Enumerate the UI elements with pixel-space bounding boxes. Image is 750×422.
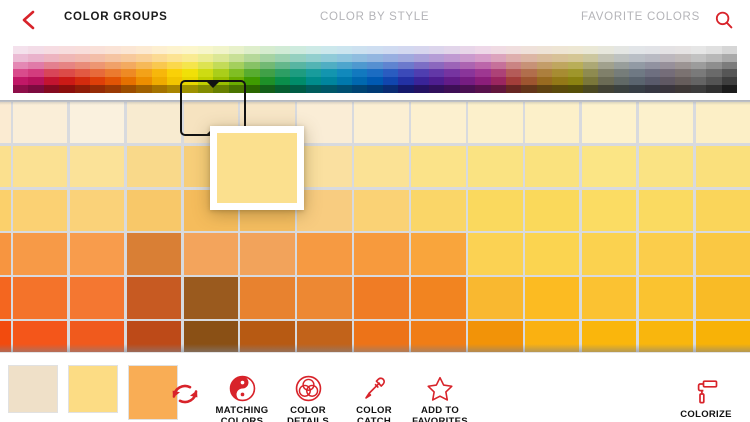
- color-swatch[interactable]: [582, 321, 637, 352]
- spectrum-cell[interactable]: [645, 54, 660, 62]
- spectrum-cell[interactable]: [260, 46, 275, 54]
- spectrum-cell[interactable]: [537, 62, 552, 70]
- spectrum-cell[interactable]: [75, 62, 90, 70]
- tab-color-groups[interactable]: COLOR GROUPS: [64, 11, 168, 23]
- spectrum-cell[interactable]: [213, 54, 228, 62]
- spectrum-cell[interactable]: [44, 77, 59, 85]
- spectrum-column[interactable]: [167, 46, 182, 93]
- spectrum-column[interactable]: [583, 46, 598, 93]
- spectrum-cell[interactable]: [244, 69, 259, 77]
- spectrum-cell[interactable]: [182, 69, 197, 77]
- refresh-button[interactable]: [168, 379, 202, 409]
- color-swatch[interactable]: [13, 321, 68, 352]
- spectrum-cell[interactable]: [13, 46, 28, 54]
- spectrum-cell[interactable]: [167, 46, 182, 54]
- spectrum-column[interactable]: [105, 46, 120, 93]
- spectrum-column[interactable]: [722, 46, 737, 93]
- color-swatch[interactable]: [468, 321, 523, 352]
- spectrum-column[interactable]: [213, 46, 228, 93]
- spectrum-cell[interactable]: [583, 69, 598, 77]
- spectrum-cell[interactable]: [244, 62, 259, 70]
- spectrum-cell[interactable]: [629, 54, 644, 62]
- spectrum-cell[interactable]: [706, 46, 721, 54]
- color-swatch[interactable]: [639, 146, 694, 187]
- color-swatch[interactable]: [354, 233, 409, 274]
- spectrum-cell[interactable]: [629, 46, 644, 54]
- spectrum-cell[interactable]: [152, 85, 167, 93]
- spectrum-cell[interactable]: [645, 85, 660, 93]
- spectrum-cell[interactable]: [275, 54, 290, 62]
- spectrum-cell[interactable]: [429, 85, 444, 93]
- spectrum-cell[interactable]: [213, 62, 228, 70]
- spectrum-cell[interactable]: [444, 54, 459, 62]
- spectrum-cell[interactable]: [521, 85, 536, 93]
- spectrum-column[interactable]: [337, 46, 352, 93]
- spectrum-cell[interactable]: [444, 77, 459, 85]
- spectrum-cell[interactable]: [675, 85, 690, 93]
- color-swatch[interactable]: [13, 233, 68, 274]
- spectrum-cell[interactable]: [675, 54, 690, 62]
- spectrum-cell[interactable]: [75, 54, 90, 62]
- spectrum-cell[interactable]: [722, 77, 737, 85]
- color-swatch[interactable]: [70, 321, 125, 352]
- spectrum-cell[interactable]: [722, 54, 737, 62]
- spectrum-cell[interactable]: [614, 85, 629, 93]
- spectrum-cell[interactable]: [105, 54, 120, 62]
- spectrum-cell[interactable]: [506, 77, 521, 85]
- color-swatch[interactable]: [70, 102, 125, 143]
- spectrum-cell[interactable]: [290, 69, 305, 77]
- spectrum-cell[interactable]: [491, 62, 506, 70]
- color-swatch[interactable]: [184, 277, 239, 318]
- spectrum-column[interactable]: [244, 46, 259, 93]
- spectrum-cell[interactable]: [583, 77, 598, 85]
- color-swatch[interactable]: [354, 190, 409, 231]
- color-swatch[interactable]: [0, 277, 11, 318]
- spectrum-column[interactable]: [506, 46, 521, 93]
- color-swatch[interactable]: [297, 146, 352, 187]
- spectrum-cell[interactable]: [475, 77, 490, 85]
- spectrum-cell[interactable]: [367, 85, 382, 93]
- spectrum-column[interactable]: [182, 46, 197, 93]
- spectrum-column[interactable]: [75, 46, 90, 93]
- spectrum-cell[interactable]: [182, 77, 197, 85]
- spectrum-cell[interactable]: [691, 54, 706, 62]
- spectrum-cell[interactable]: [645, 77, 660, 85]
- color-swatch[interactable]: [582, 146, 637, 187]
- spectrum-cell[interactable]: [105, 46, 120, 54]
- color-swatch[interactable]: [639, 102, 694, 143]
- spectrum-column[interactable]: [475, 46, 490, 93]
- spectrum-column[interactable]: [537, 46, 552, 93]
- spectrum-cell[interactable]: [367, 69, 382, 77]
- color-swatch[interactable]: [13, 277, 68, 318]
- color-swatch[interactable]: [0, 102, 11, 143]
- spectrum-cell[interactable]: [568, 77, 583, 85]
- spectrum-cell[interactable]: [629, 69, 644, 77]
- color-swatch[interactable]: [354, 146, 409, 187]
- color-swatch[interactable]: [696, 277, 750, 318]
- spectrum-cell[interactable]: [475, 54, 490, 62]
- tab-color-by-style[interactable]: COLOR BY STYLE: [320, 11, 429, 23]
- spectrum-cell[interactable]: [398, 62, 413, 70]
- color-grid[interactable]: [0, 102, 750, 352]
- spectrum-cell[interactable]: [59, 46, 74, 54]
- spectrum-cell[interactable]: [59, 77, 74, 85]
- spectrum-cell[interactable]: [568, 69, 583, 77]
- spectrum-cell[interactable]: [121, 85, 136, 93]
- color-swatch[interactable]: [696, 102, 750, 143]
- spectrum-cell[interactable]: [506, 69, 521, 77]
- color-swatch[interactable]: [468, 277, 523, 318]
- spectrum-column[interactable]: [13, 46, 28, 93]
- spectrum-cell[interactable]: [383, 77, 398, 85]
- spectrum-cell[interactable]: [414, 62, 429, 70]
- spectrum-cell[interactable]: [44, 85, 59, 93]
- spectrum-cell[interactable]: [645, 46, 660, 54]
- spectrum-cell[interactable]: [367, 77, 382, 85]
- spectrum-cell[interactable]: [198, 46, 213, 54]
- spectrum-cell[interactable]: [13, 85, 28, 93]
- spectrum-cell[interactable]: [352, 69, 367, 77]
- spectrum-cell[interactable]: [275, 46, 290, 54]
- spectrum-cell[interactable]: [90, 54, 105, 62]
- color-swatch[interactable]: [354, 102, 409, 143]
- spectrum-cell[interactable]: [337, 46, 352, 54]
- spectrum-cell[interactable]: [121, 54, 136, 62]
- spectrum-cell[interactable]: [167, 85, 182, 93]
- spectrum-cell[interactable]: [260, 69, 275, 77]
- spectrum-cell[interactable]: [521, 69, 536, 77]
- spectrum-cell[interactable]: [691, 62, 706, 70]
- spectrum-cell[interactable]: [614, 46, 629, 54]
- spectrum-cell[interactable]: [691, 46, 706, 54]
- spectrum-column[interactable]: [414, 46, 429, 93]
- spectrum-cell[interactable]: [537, 77, 552, 85]
- spectrum-cell[interactable]: [352, 77, 367, 85]
- spectrum-cell[interactable]: [521, 54, 536, 62]
- spectrum-cell[interactable]: [460, 62, 475, 70]
- spectrum-cell[interactable]: [460, 69, 475, 77]
- spectrum-cell[interactable]: [444, 85, 459, 93]
- color-swatch[interactable]: [411, 233, 466, 274]
- spectrum-cell[interactable]: [306, 69, 321, 77]
- color-swatch[interactable]: [411, 190, 466, 231]
- spectrum-column[interactable]: [121, 46, 136, 93]
- spectrum-cell[interactable]: [598, 85, 613, 93]
- spectrum-cell[interactable]: [645, 69, 660, 77]
- spectrum-cell[interactable]: [244, 54, 259, 62]
- spectrum-cell[interactable]: [660, 46, 675, 54]
- spectrum-cell[interactable]: [491, 85, 506, 93]
- spectrum-cell[interactable]: [614, 77, 629, 85]
- tab-favorite-colors[interactable]: FAVORITE COLORS: [581, 11, 700, 23]
- spectrum-cell[interactable]: [691, 85, 706, 93]
- spectrum-cell[interactable]: [44, 54, 59, 62]
- spectrum-cell[interactable]: [367, 46, 382, 54]
- spectrum-cell[interactable]: [414, 77, 429, 85]
- spectrum-cell[interactable]: [44, 62, 59, 70]
- spectrum-cell[interactable]: [198, 77, 213, 85]
- spectrum-cell[interactable]: [722, 62, 737, 70]
- spectrum-cell[interactable]: [59, 85, 74, 93]
- spectrum-cell[interactable]: [598, 54, 613, 62]
- spectrum-cell[interactable]: [660, 54, 675, 62]
- spectrum-cell[interactable]: [198, 69, 213, 77]
- spectrum-column[interactable]: [290, 46, 305, 93]
- spectrum-cell[interactable]: [75, 46, 90, 54]
- spectrum-cell[interactable]: [614, 54, 629, 62]
- spectrum-cell[interactable]: [90, 77, 105, 85]
- spectrum-column[interactable]: [568, 46, 583, 93]
- spectrum-cell[interactable]: [167, 77, 182, 85]
- spectrum-cell[interactable]: [491, 69, 506, 77]
- color-swatch[interactable]: [411, 102, 466, 143]
- spectrum-cell[interactable]: [660, 69, 675, 77]
- spectrum-column[interactable]: [59, 46, 74, 93]
- spectrum-cell[interactable]: [583, 62, 598, 70]
- spectrum-cell[interactable]: [675, 77, 690, 85]
- color-swatch[interactable]: [297, 190, 352, 231]
- spectrum-cell[interactable]: [414, 85, 429, 93]
- spectrum-cell[interactable]: [414, 69, 429, 77]
- spectrum-cell[interactable]: [598, 46, 613, 54]
- spectrum-cell[interactable]: [506, 85, 521, 93]
- spectrum-cell[interactable]: [182, 54, 197, 62]
- spectrum-cell[interactable]: [182, 62, 197, 70]
- spectrum-cell[interactable]: [598, 77, 613, 85]
- spectrum-cell[interactable]: [383, 85, 398, 93]
- spectrum-cell[interactable]: [213, 85, 228, 93]
- spectrum-cell[interactable]: [152, 69, 167, 77]
- spectrum-cell[interactable]: [383, 62, 398, 70]
- spectrum-column[interactable]: [90, 46, 105, 93]
- spectrum-cell[interactable]: [59, 62, 74, 70]
- spectrum-cell[interactable]: [521, 62, 536, 70]
- spectrum-cell[interactable]: [229, 85, 244, 93]
- spectrum-cell[interactable]: [260, 54, 275, 62]
- color-swatch[interactable]: [468, 102, 523, 143]
- spectrum-cell[interactable]: [706, 85, 721, 93]
- spectrum-cell[interactable]: [260, 77, 275, 85]
- spectrum-cell[interactable]: [275, 62, 290, 70]
- spectrum-cell[interactable]: [290, 46, 305, 54]
- spectrum-cell[interactable]: [182, 85, 197, 93]
- spectrum-column[interactable]: [229, 46, 244, 93]
- spectrum-cell[interactable]: [337, 69, 352, 77]
- spectrum-cell[interactable]: [13, 77, 28, 85]
- spectrum-cell[interactable]: [28, 69, 43, 77]
- spectrum-cell[interactable]: [28, 77, 43, 85]
- spectrum-cell[interactable]: [491, 46, 506, 54]
- recent-swatch-2[interactable]: [68, 365, 118, 413]
- color-swatch[interactable]: [411, 146, 466, 187]
- spectrum-cell[interactable]: [552, 62, 567, 70]
- spectrum-column[interactable]: [152, 46, 167, 93]
- spectrum-column[interactable]: [367, 46, 382, 93]
- spectrum-column[interactable]: [552, 46, 567, 93]
- color-swatch[interactable]: [696, 321, 750, 352]
- spectrum-cell[interactable]: [568, 54, 583, 62]
- spectrum-cell[interactable]: [136, 54, 151, 62]
- spectrum-column[interactable]: [491, 46, 506, 93]
- selected-color-popup[interactable]: [210, 126, 304, 210]
- spectrum-cell[interactable]: [583, 85, 598, 93]
- spectrum-cell[interactable]: [167, 62, 182, 70]
- spectrum-column[interactable]: [352, 46, 367, 93]
- spectrum-cell[interactable]: [321, 46, 336, 54]
- spectrum-cell[interactable]: [460, 77, 475, 85]
- colorize-button[interactable]: COLORIZE: [666, 377, 746, 420]
- spectrum-cell[interactable]: [660, 77, 675, 85]
- spectrum-cell[interactable]: [306, 54, 321, 62]
- color-swatch[interactable]: [70, 190, 125, 231]
- spectrum-cell[interactable]: [583, 46, 598, 54]
- spectrum-column[interactable]: [383, 46, 398, 93]
- spectrum-cell[interactable]: [706, 62, 721, 70]
- color-swatch[interactable]: [240, 233, 295, 274]
- spectrum-cell[interactable]: [90, 85, 105, 93]
- spectrum-cell[interactable]: [321, 85, 336, 93]
- color-swatch[interactable]: [582, 190, 637, 231]
- spectrum-cell[interactable]: [337, 54, 352, 62]
- spectrum-cell[interactable]: [321, 54, 336, 62]
- color-swatch[interactable]: [13, 102, 68, 143]
- spectrum-cell[interactable]: [306, 85, 321, 93]
- spectrum-cell[interactable]: [75, 85, 90, 93]
- spectrum-cell[interactable]: [290, 54, 305, 62]
- color-swatch[interactable]: [127, 190, 182, 231]
- spectrum-cell[interactable]: [352, 46, 367, 54]
- spectrum-cell[interactable]: [136, 69, 151, 77]
- spectrum-cell[interactable]: [275, 85, 290, 93]
- color-swatch[interactable]: [582, 277, 637, 318]
- spectrum-cell[interactable]: [136, 77, 151, 85]
- spectrum-cell[interactable]: [121, 77, 136, 85]
- spectrum-cell[interactable]: [537, 54, 552, 62]
- spectrum-cell[interactable]: [167, 69, 182, 77]
- spectrum-cell[interactable]: [691, 69, 706, 77]
- spectrum-cell[interactable]: [722, 46, 737, 54]
- search-button[interactable]: [712, 8, 736, 32]
- spectrum-cell[interactable]: [75, 77, 90, 85]
- spectrum-cell[interactable]: [506, 62, 521, 70]
- spectrum-cell[interactable]: [337, 85, 352, 93]
- spectrum-cell[interactable]: [460, 85, 475, 93]
- spectrum-cell[interactable]: [475, 46, 490, 54]
- color-grid-area[interactable]: [0, 100, 750, 352]
- color-swatch[interactable]: [468, 146, 523, 187]
- spectrum-cell[interactable]: [152, 54, 167, 62]
- color-swatch[interactable]: [639, 277, 694, 318]
- spectrum-cell[interactable]: [537, 46, 552, 54]
- spectrum-cell[interactable]: [121, 46, 136, 54]
- spectrum-column[interactable]: [429, 46, 444, 93]
- spectrum-cell[interactable]: [367, 62, 382, 70]
- spectrum-cell[interactable]: [75, 69, 90, 77]
- color-swatch[interactable]: [297, 277, 352, 318]
- spectrum-cell[interactable]: [398, 77, 413, 85]
- spectrum-cell[interactable]: [152, 62, 167, 70]
- spectrum-column[interactable]: [28, 46, 43, 93]
- spectrum-cell[interactable]: [198, 85, 213, 93]
- spectrum-cell[interactable]: [136, 85, 151, 93]
- spectrum-column[interactable]: [136, 46, 151, 93]
- spectrum-cell[interactable]: [275, 69, 290, 77]
- color-swatch[interactable]: [127, 321, 182, 352]
- color-swatch[interactable]: [127, 102, 182, 143]
- spectrum-cell[interactable]: [105, 62, 120, 70]
- spectrum-cell[interactable]: [675, 46, 690, 54]
- color-swatch[interactable]: [582, 102, 637, 143]
- spectrum-cell[interactable]: [167, 54, 182, 62]
- color-swatch[interactable]: [0, 233, 11, 274]
- spectrum-cell[interactable]: [290, 77, 305, 85]
- spectrum-cell[interactable]: [383, 46, 398, 54]
- spectrum-cell[interactable]: [660, 85, 675, 93]
- color-swatch[interactable]: [354, 321, 409, 352]
- spectrum-cell[interactable]: [506, 54, 521, 62]
- color-spectrum-strip[interactable]: [13, 46, 737, 93]
- color-swatch[interactable]: [127, 233, 182, 274]
- spectrum-cell[interactable]: [90, 46, 105, 54]
- spectrum-cell[interactable]: [352, 62, 367, 70]
- spectrum-cell[interactable]: [552, 46, 567, 54]
- spectrum-cell[interactable]: [491, 54, 506, 62]
- color-swatch[interactable]: [354, 277, 409, 318]
- spectrum-cell[interactable]: [306, 62, 321, 70]
- color-swatch[interactable]: [240, 321, 295, 352]
- spectrum-cell[interactable]: [444, 46, 459, 54]
- spectrum-column[interactable]: [321, 46, 336, 93]
- spectrum-column[interactable]: [44, 46, 59, 93]
- color-swatch[interactable]: [639, 233, 694, 274]
- spectrum-cell[interactable]: [660, 62, 675, 70]
- spectrum-column[interactable]: [444, 46, 459, 93]
- spectrum-cell[interactable]: [691, 77, 706, 85]
- spectrum-column[interactable]: [598, 46, 613, 93]
- color-swatch[interactable]: [411, 321, 466, 352]
- spectrum-cell[interactable]: [475, 62, 490, 70]
- spectrum-cell[interactable]: [352, 85, 367, 93]
- spectrum-column[interactable]: [306, 46, 321, 93]
- color-swatch[interactable]: [468, 233, 523, 274]
- color-swatch[interactable]: [525, 321, 580, 352]
- spectrum-column[interactable]: [645, 46, 660, 93]
- spectrum-column[interactable]: [398, 46, 413, 93]
- spectrum-cell[interactable]: [28, 54, 43, 62]
- spectrum-cell[interactable]: [13, 54, 28, 62]
- spectrum-cell[interactable]: [614, 62, 629, 70]
- spectrum-cell[interactable]: [28, 62, 43, 70]
- spectrum-cell[interactable]: [598, 62, 613, 70]
- spectrum-cell[interactable]: [537, 85, 552, 93]
- spectrum-column[interactable]: [614, 46, 629, 93]
- color-swatch[interactable]: [696, 233, 750, 274]
- spectrum-cell[interactable]: [321, 69, 336, 77]
- recent-swatch-1[interactable]: [8, 365, 58, 413]
- color-swatch[interactable]: [184, 233, 239, 274]
- color-swatch[interactable]: [70, 146, 125, 187]
- spectrum-cell[interactable]: [121, 62, 136, 70]
- spectrum-cell[interactable]: [568, 46, 583, 54]
- spectrum-cell[interactable]: [105, 69, 120, 77]
- spectrum-cell[interactable]: [429, 62, 444, 70]
- color-swatch[interactable]: [127, 277, 182, 318]
- spectrum-column[interactable]: [660, 46, 675, 93]
- color-swatch[interactable]: [696, 146, 750, 187]
- spectrum-cell[interactable]: [598, 69, 613, 77]
